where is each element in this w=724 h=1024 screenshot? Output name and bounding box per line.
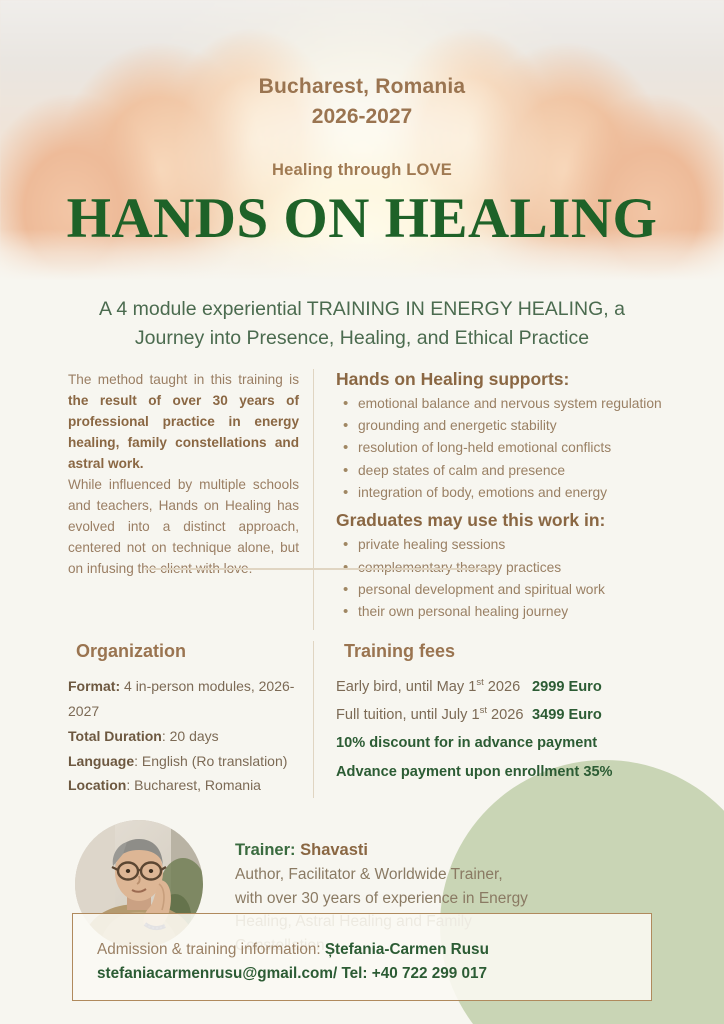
hero-banner: Bucharest, Romania 2026-2027 Healing thr…: [0, 0, 724, 281]
method-paragraph-1: The method taught in this training is th…: [68, 369, 299, 474]
fee-amount: 3499 Euro: [532, 702, 602, 730]
subtitle-line-2: Journey into Presence, Healing, and Ethi…: [62, 324, 662, 353]
page-title: HANDS ON HEALING: [0, 189, 724, 249]
supports-list: emotional balance and nervous system reg…: [336, 393, 706, 505]
list-item: emotional balance and nervous system reg…: [336, 393, 706, 415]
organization-row: Language: English (Ro translation): [68, 749, 299, 774]
hero-text-block: Bucharest, Romania 2026-2027 Healing thr…: [0, 0, 724, 281]
organization-row: Location: Bucharest, Romania: [68, 773, 299, 798]
fee-row: Full tuition, until July 1st 2026 3499 E…: [336, 702, 706, 730]
upper-columns: The method taught in this training is th…: [0, 369, 724, 630]
list-item: private healing sessions: [336, 534, 706, 556]
fee-label-year: 2026: [487, 707, 524, 723]
organization-row-label: Location: [68, 777, 126, 793]
fees-heading: Training fees: [344, 641, 706, 662]
list-item: deep states of calm and presence: [336, 460, 706, 482]
hero-years: 2026-2027: [0, 102, 724, 132]
footer-line-1: Admission & training information: Ștefan…: [97, 938, 651, 962]
organization-row-label: Language: [68, 753, 134, 769]
hero-tagline: Healing through LOVE: [0, 161, 724, 180]
fee-amount: 2999 Euro: [532, 674, 602, 702]
organization-column: Organization Format: 4 in-person modules…: [68, 641, 313, 799]
graduates-heading: Graduates may use this work in:: [336, 510, 706, 531]
fee-label-text: Early bird, until May 1: [336, 679, 476, 695]
organization-row-value: : 20 days: [162, 728, 219, 744]
method-column: The method taught in this training is th…: [68, 369, 313, 630]
trainer-name: Shavasti: [300, 841, 368, 859]
organization-row-value: : English (Ro translation): [134, 753, 287, 769]
lower-columns: Organization Format: 4 in-person modules…: [0, 641, 724, 799]
footer-contact-details[interactable]: stefaniacarmenrusu@gmail.com/ Tel: +40 7…: [97, 962, 651, 986]
organization-row-label: Total Duration: [68, 728, 162, 744]
section-divider: [145, 568, 495, 570]
fee-discount-note: 10% discount for in advance payment: [336, 729, 706, 757]
fees-column: Training fees Early bird, until May 1st …: [313, 641, 706, 799]
fee-row: Early bird, until May 1st 2026 2999 Euro: [336, 674, 706, 702]
hero-location: Bucharest, Romania: [0, 72, 724, 102]
fee-advance-note: Advance payment upon enrollment 35%: [336, 758, 706, 786]
footer-contact-name: Ștefania-Carmen Rusu: [325, 941, 489, 958]
method-p1-bold: the result of over 30 years of professio…: [68, 393, 299, 471]
benefits-column: Hands on Healing supports: emotional bal…: [313, 369, 706, 630]
fee-ordinal-suffix: st: [476, 677, 483, 688]
trainer-label: Trainer:: [235, 841, 300, 859]
trainer-bio-line: with over 30 years of experience in Ener…: [235, 887, 528, 911]
list-item: resolution of long-held emotional confli…: [336, 437, 706, 459]
contact-footer-box: Admission & training information: Ștefan…: [72, 913, 652, 1001]
method-paragraph-2: While influenced by multiple schools and…: [68, 474, 299, 579]
fee-label: Full tuition, until July 1st 2026: [336, 702, 532, 730]
organization-row: Total Duration: 20 days: [68, 724, 299, 749]
subtitle: A 4 module experiential TRAINING IN ENER…: [62, 295, 662, 353]
list-item: personal development and spiritual work: [336, 579, 706, 601]
method-p1-plain: The method taught in this training is: [68, 372, 299, 387]
trainer-name-line: Trainer: Shavasti: [235, 838, 528, 863]
list-item: their own personal healing journey: [336, 601, 706, 623]
graduates-list: private healing sessions complementary t…: [336, 534, 706, 623]
fee-ordinal-suffix: st: [480, 705, 487, 716]
list-item: integration of body, emotions and energy: [336, 482, 706, 504]
organization-heading: Organization: [76, 641, 299, 662]
footer-info-label: Admission & training information:: [97, 941, 325, 958]
trainer-bio-line: Author, Facilitator & Worldwide Trainer,: [235, 863, 528, 887]
fee-label-text: Full tuition, until July 1: [336, 707, 480, 723]
subtitle-line-1: A 4 module experiential TRAINING IN ENER…: [62, 295, 662, 324]
fee-label-year: 2026: [484, 679, 521, 695]
fee-label: Early bird, until May 1st 2026: [336, 674, 532, 702]
organization-row-value: : Bucharest, Romania: [126, 777, 261, 793]
poster-page: Bucharest, Romania 2026-2027 Healing thr…: [0, 0, 724, 1024]
supports-heading: Hands on Healing supports:: [336, 369, 706, 390]
list-item: grounding and energetic stability: [336, 415, 706, 437]
organization-row: Format: 4 in-person modules, 2026-2027: [68, 674, 299, 724]
organization-row-label: Format:: [68, 678, 120, 694]
